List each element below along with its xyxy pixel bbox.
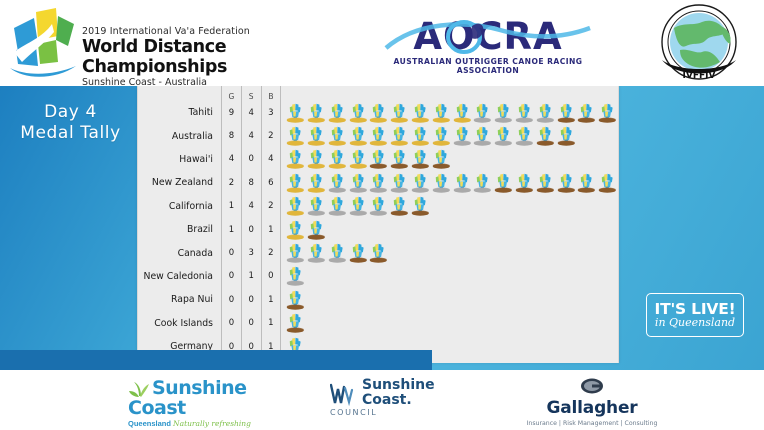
sc-sub-bold: Queensland <box>128 419 171 428</box>
silver-count: 0 <box>241 288 261 311</box>
medal-icon-gold <box>410 125 431 147</box>
medal-icon-gold <box>285 219 306 241</box>
gold-count: 0 <box>221 265 241 288</box>
gold-count: 0 <box>221 288 241 311</box>
medal-icon-gold <box>348 148 369 170</box>
country-name: New Zealand <box>138 171 221 194</box>
country-name: Hawai'i <box>138 148 221 171</box>
country-name: Rapa Nui <box>138 288 221 311</box>
gold-count: 0 <box>221 241 241 264</box>
sunshine-coast-tagline: Queensland Naturally refreshing <box>128 419 278 428</box>
silver-count: 3 <box>241 241 261 264</box>
gold-count: 9 <box>221 101 241 124</box>
medal-icon-bronze <box>285 312 306 334</box>
council-wave-icon <box>330 381 358 407</box>
medal-icon-bronze <box>576 172 597 194</box>
medal-icon-silver <box>493 102 514 124</box>
medal-icon-bronze <box>389 195 410 217</box>
gold-count: 1 <box>221 195 241 218</box>
medal-icon-gold <box>389 125 410 147</box>
bronze-count: 0 <box>261 265 281 288</box>
medal-icon-gold <box>431 125 452 147</box>
medal-icon-silver <box>327 242 348 264</box>
gold-count: 2 <box>221 171 241 194</box>
table-row: Tahiti943 <box>138 101 618 124</box>
header-medals <box>281 86 618 101</box>
sponsor-sunshine-coast: Sunshine Coast Queensland Naturally refr… <box>128 378 278 422</box>
day-medal-tally-label: Day 4 Medal Tally <box>8 102 133 144</box>
medal-icon-silver <box>327 172 348 194</box>
table-row: Hawai'i404 <box>138 148 618 171</box>
medal-icon-silver <box>514 102 535 124</box>
silver-count: 4 <box>241 195 261 218</box>
bronze-count: 1 <box>261 218 281 241</box>
header-bar: 2019 International Va'a Federation World… <box>0 0 764 86</box>
medal-icon-silver <box>306 242 327 264</box>
gold-count: 4 <box>221 148 241 171</box>
table-row: Rapa Nui001 <box>138 288 618 311</box>
medal-icon-gold <box>285 195 306 217</box>
table-row: Canada032 <box>138 241 618 264</box>
event-title: 2019 International Va'a Federation World… <box>82 26 362 88</box>
gold-count: 0 <box>221 312 241 335</box>
medal-icon-silver <box>472 102 493 124</box>
bronze-count: 2 <box>261 195 281 218</box>
medal-icon-silver <box>472 172 493 194</box>
gold-count: 8 <box>221 124 241 147</box>
country-name: California <box>138 195 221 218</box>
medal-icon-gold <box>306 102 327 124</box>
medal-tally-table: G S B Tahiti943Australia842Hawai'i404New… <box>138 86 618 358</box>
medal-tally-body: Tahiti943Australia842Hawai'i404New Zeala… <box>138 101 618 358</box>
gallagher-g-icon <box>579 378 605 394</box>
country-name: New Caledonia <box>138 265 221 288</box>
medal-icon-gold <box>285 172 306 194</box>
medal-icon-silver <box>348 172 369 194</box>
table-row: Cook Islands001 <box>138 312 618 335</box>
sunshine-coast-name: Sunshine Coast <box>128 378 278 418</box>
its-live-queensland-badge: IT'S LIVE! in Queensland <box>646 293 744 337</box>
header-bronze: B <box>261 86 281 101</box>
medal-icon-gold <box>368 102 389 124</box>
medal-icon-bronze <box>410 148 431 170</box>
council-sub: COUNCIL <box>330 408 480 417</box>
table-row: Australia842 <box>138 124 618 147</box>
medal-icon-gold <box>389 102 410 124</box>
aocra-wave-icon <box>368 18 608 56</box>
broadcast-graphic: 2019 International Va'a Federation World… <box>0 0 764 430</box>
table-row: California142 <box>138 195 618 218</box>
medal-icon-silver <box>368 195 389 217</box>
medal-icon-bronze <box>556 125 577 147</box>
medal-icon-silver <box>493 125 514 147</box>
silver-count: 4 <box>241 124 261 147</box>
country-name: Tahiti <box>138 101 221 124</box>
medal-icon-gold <box>431 102 452 124</box>
medal-icon-silver <box>410 172 431 194</box>
medal-icon-strip <box>281 241 618 264</box>
medal-icon-gold <box>327 102 348 124</box>
medal-icon-bronze <box>556 102 577 124</box>
medal-icon-gold <box>452 102 473 124</box>
medal-icon-silver <box>452 125 473 147</box>
medal-icon-silver <box>431 172 452 194</box>
medal-icon-bronze <box>368 242 389 264</box>
medal-icon-silver <box>452 172 473 194</box>
medal-icon-bronze <box>535 125 556 147</box>
medal-icon-gold <box>410 102 431 124</box>
medal-icon-bronze <box>514 172 535 194</box>
medal-icon-strip <box>281 312 618 335</box>
medal-icon-bronze <box>431 148 452 170</box>
day-number: Day 4 <box>8 102 133 123</box>
country-name: Australia <box>138 124 221 147</box>
table-row: Brazil101 <box>138 218 618 241</box>
medal-icon-gold <box>348 125 369 147</box>
medal-icon-strip <box>281 124 618 147</box>
silver-count: 1 <box>241 265 261 288</box>
medal-icon-gold <box>285 148 306 170</box>
medal-icon-silver <box>348 195 369 217</box>
medal-icon-strip <box>281 288 618 311</box>
ivf-abbrev-text: IVFFIV <box>683 71 716 81</box>
gold-count: 1 <box>221 218 241 241</box>
medal-icon-bronze <box>368 148 389 170</box>
table-row: New Zealand286 <box>138 171 618 194</box>
sponsor-sunshine-coast-council: Sunshine Coast. COUNCIL <box>330 378 480 422</box>
medal-icon-gold <box>285 102 306 124</box>
medal-icon-gold <box>306 125 327 147</box>
bronze-count: 2 <box>261 241 281 264</box>
event-name: World Distance Championships <box>82 37 362 77</box>
medal-icon-silver <box>285 242 306 264</box>
ivf-sail-logo <box>8 6 80 80</box>
sponsor-bar: Sunshine Coast Queensland Naturally refr… <box>0 370 764 430</box>
silver-count: 0 <box>241 218 261 241</box>
sc-sub-italic: Naturally refreshing <box>173 419 251 428</box>
medal-icon-gold <box>306 148 327 170</box>
medal-icon-bronze <box>597 102 618 124</box>
sponsor-gallagher: Gallagher Insurance | Risk Management | … <box>512 378 672 422</box>
bronze-count: 1 <box>261 312 281 335</box>
medal-icon-bronze <box>597 172 618 194</box>
medal-icon-bronze <box>285 289 306 311</box>
header-silver: S <box>241 86 261 101</box>
ivf-federation-logo: IVFFIV <box>650 2 748 84</box>
medal-icon-silver <box>368 172 389 194</box>
medal-icon-strip <box>281 195 618 218</box>
medal-icon-strip <box>281 148 618 171</box>
medal-icon-silver <box>285 265 306 287</box>
medal-icon-bronze <box>535 172 556 194</box>
medal-icon-silver <box>327 195 348 217</box>
medal-icon-strip <box>281 101 618 124</box>
medal-icon-gold <box>285 125 306 147</box>
medal-icon-bronze <box>556 172 577 194</box>
medal-icon-silver <box>472 125 493 147</box>
medal-icon-bronze <box>410 195 431 217</box>
table-header-row: G S B <box>138 86 618 101</box>
bronze-count: 2 <box>261 124 281 147</box>
header-country <box>138 86 221 101</box>
medal-icon-bronze <box>389 148 410 170</box>
sunshine-rays-icon <box>128 380 150 398</box>
stage-background: Day 4 Medal Tally G S B Tahiti943Austral… <box>0 86 764 370</box>
silver-count: 8 <box>241 171 261 194</box>
medal-icon-gold <box>368 125 389 147</box>
medal-icon-gold <box>327 148 348 170</box>
aocra-tagline: AUSTRALIAN OUTRIGGER CANOE RACING ASSOCI… <box>368 57 608 75</box>
its-live-line2: in Queensland <box>655 317 735 329</box>
lower-blue-band <box>0 350 432 370</box>
medal-icon-silver <box>389 172 410 194</box>
country-name: Cook Islands <box>138 312 221 335</box>
silver-count: 4 <box>241 101 261 124</box>
medal-tally-panel: G S B Tahiti943Australia842Hawai'i404New… <box>137 86 619 363</box>
bronze-count: 6 <box>261 171 281 194</box>
bronze-count: 3 <box>261 101 281 124</box>
medal-icon-bronze <box>306 219 327 241</box>
medal-icon-strip <box>281 171 618 194</box>
its-live-line1: IT'S LIVE! <box>655 301 736 317</box>
medal-icon-gold <box>306 172 327 194</box>
bronze-count: 1 <box>261 288 281 311</box>
header-gold: G <box>221 86 241 101</box>
silver-count: 0 <box>241 148 261 171</box>
bronze-count: 4 <box>261 148 281 171</box>
medal-icon-bronze <box>348 242 369 264</box>
medal-icon-silver <box>514 125 535 147</box>
medal-icon-gold <box>327 125 348 147</box>
event-subtitle-top: 2019 International Va'a Federation <box>82 26 362 37</box>
medal-icon-silver <box>535 102 556 124</box>
country-name: Brazil <box>138 218 221 241</box>
medal-icon-bronze <box>493 172 514 194</box>
silver-count: 0 <box>241 312 261 335</box>
country-name: Canada <box>138 241 221 264</box>
gallagher-name: Gallagher <box>512 399 672 418</box>
aocra-logo: AOCRA AUSTRALIAN OUTRIGGER CANOE RACING … <box>368 18 608 74</box>
medal-icon-bronze <box>576 102 597 124</box>
medal-icon-silver <box>306 195 327 217</box>
medal-tally-text: Medal Tally <box>8 123 133 144</box>
medal-icon-gold <box>348 102 369 124</box>
medal-icon-strip <box>281 218 618 241</box>
table-row: New Caledonia010 <box>138 265 618 288</box>
gallagher-services: Insurance | Risk Management | Consulting <box>512 420 672 428</box>
medal-icon-strip <box>281 265 618 288</box>
